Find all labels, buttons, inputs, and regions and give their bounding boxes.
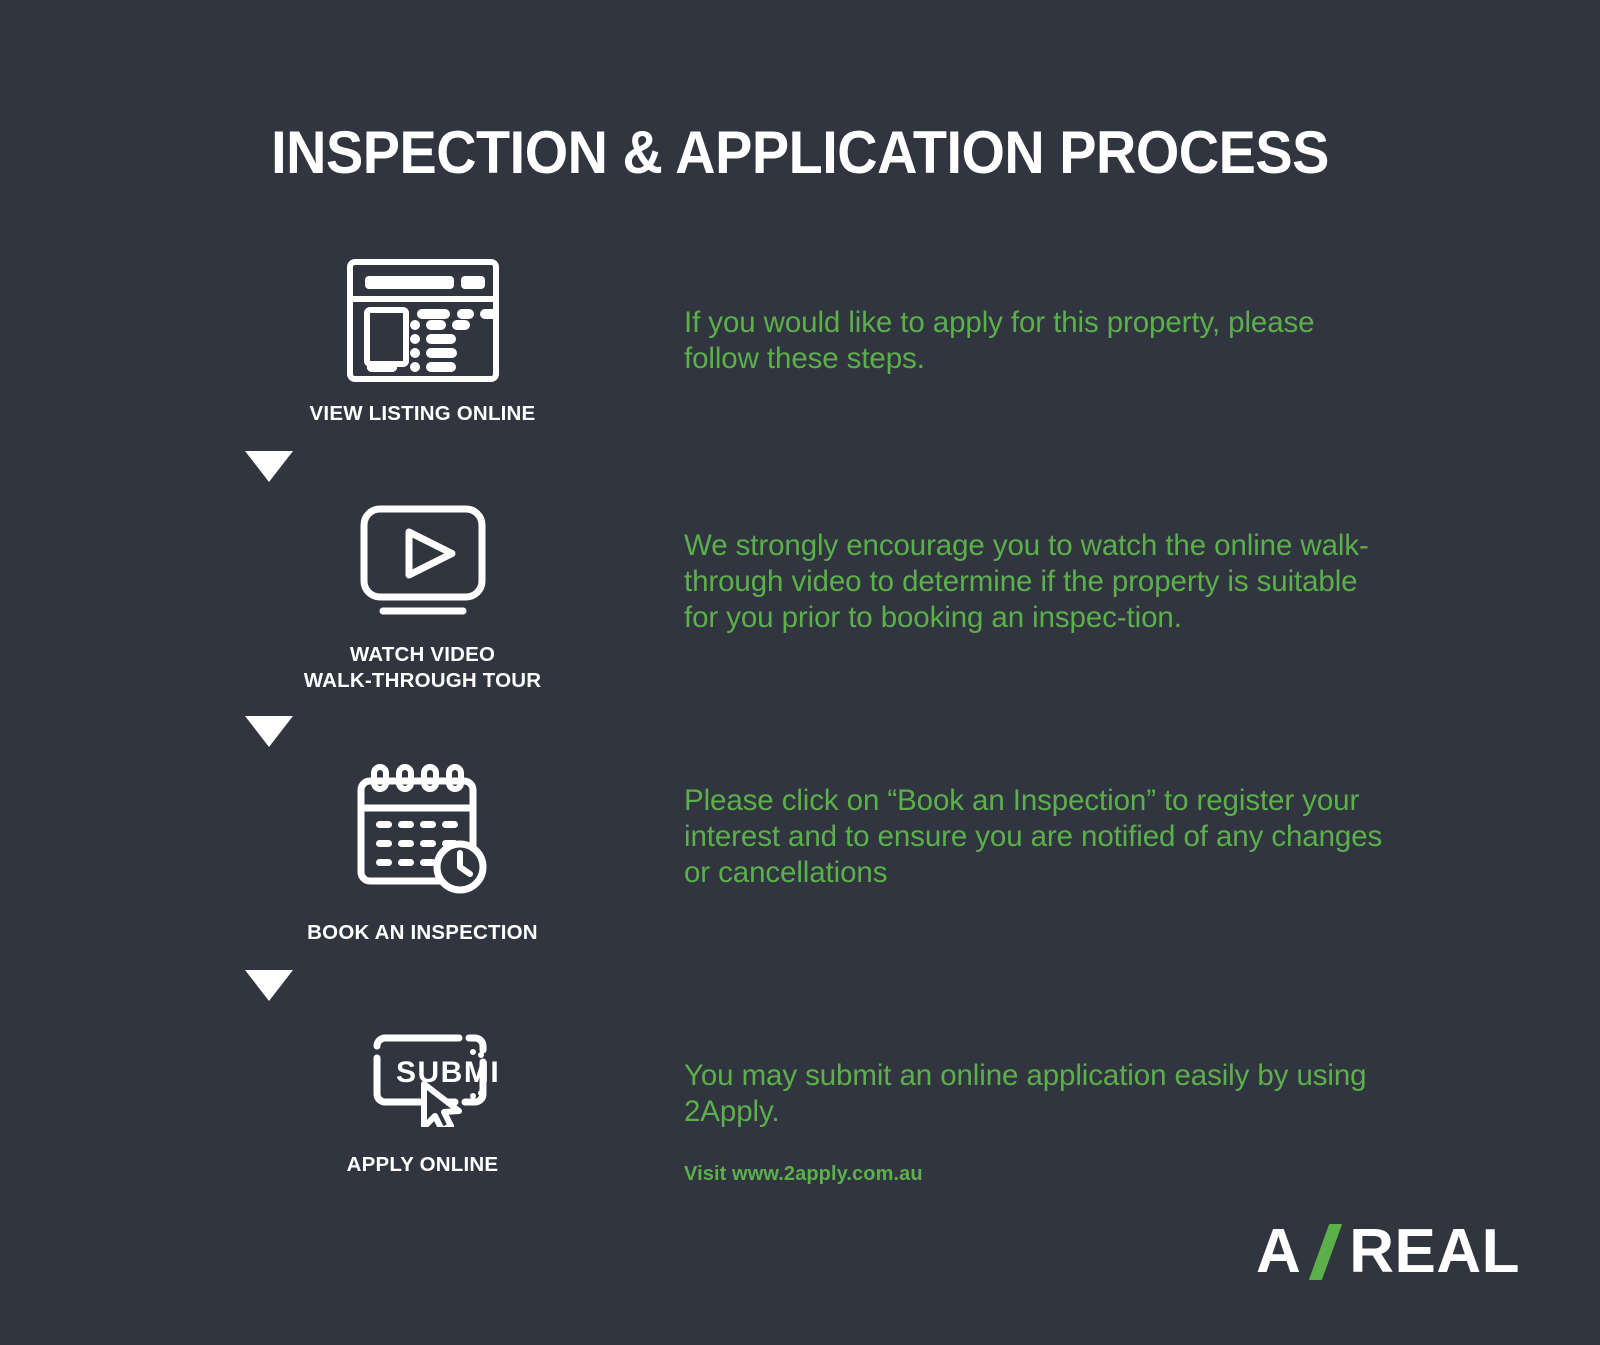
step-label-view-listing-online: VIEW LISTING ONLINE	[310, 401, 536, 427]
flow-arrow-1	[245, 451, 293, 482]
step-label-book-inspection: BOOK AN INSPECTION	[307, 920, 538, 946]
logo-letter-a: A	[1256, 1216, 1301, 1287]
step-view-listing-online: VIEW LISTING ONLINE	[245, 258, 600, 427]
logo-word-real: REAL	[1349, 1216, 1520, 1287]
step-label-watch-video: WATCH VIDEO WALK-THROUGH TOUR	[304, 642, 542, 694]
paragraph-intro: If you would like to apply for this prop…	[684, 305, 1324, 377]
browser-listing-icon	[347, 258, 499, 383]
step-apply-online: SUBMIT APPLY ONLINE	[245, 1023, 600, 1178]
infographic-page: INSPECTION & APPLICATION PROCESS	[0, 0, 1600, 1345]
flow-arrow-3	[245, 970, 293, 1001]
step-watch-video: WATCH VIDEO WALK-THROUGH TOUR	[245, 504, 600, 694]
page-title: INSPECTION & APPLICATION PROCESS	[56, 118, 1544, 187]
paragraph-apply: You may submit an online application eas…	[684, 1058, 1379, 1130]
step-book-inspection: BOOK AN INSPECTION	[245, 763, 600, 946]
paragraph-inspection: Please click on “Book an Inspection” to …	[684, 783, 1384, 891]
paragraph-video: We strongly encourage you to watch the o…	[684, 528, 1392, 636]
step-label-apply-online: APPLY ONLINE	[347, 1152, 499, 1178]
submit-button-cursor-icon: SUBMIT	[347, 1023, 499, 1128]
calendar-clock-icon	[347, 763, 499, 898]
video-player-icon	[347, 504, 499, 622]
submit-icon-text: SUBMIT	[396, 1056, 499, 1089]
flow-arrow-2	[245, 716, 293, 747]
visit-link[interactable]: Visit www.2apply.com.au	[684, 1163, 923, 1186]
process-steps-column: VIEW LISTING ONLINE WATCH VIDEO WALK-THR…	[245, 258, 600, 1178]
green-slash-icon	[1311, 1224, 1345, 1280]
brand-logo: A REAL	[1256, 1216, 1520, 1287]
